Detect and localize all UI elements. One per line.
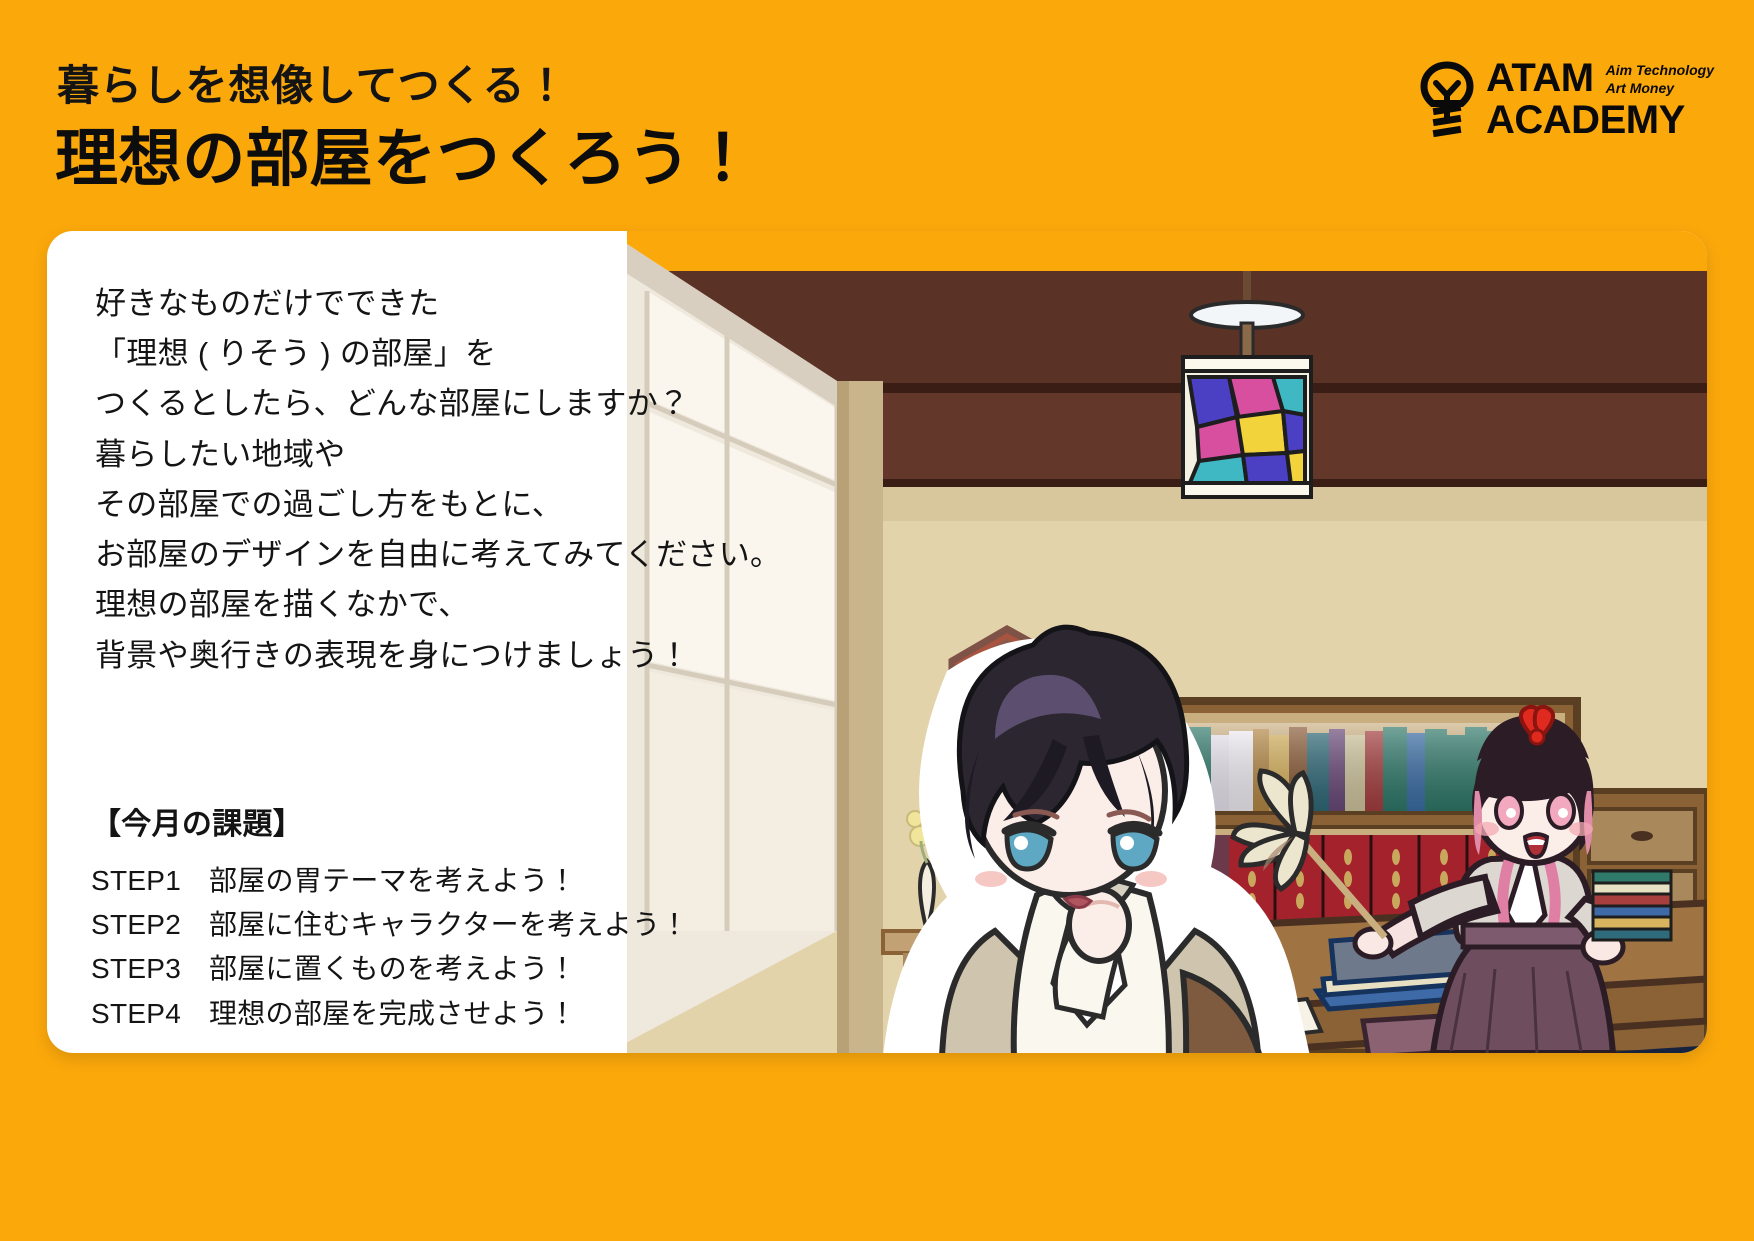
logo-wordmark: ATAM Aim Technology Art Money ACADEMY <box>1486 58 1714 140</box>
description-line: 背景や奥行きの表現を身につけましょう！ <box>95 631 795 681</box>
logo-tagline-2: Art Money <box>1606 80 1714 98</box>
step-item: STEP4 理想の部屋を完成させよう！ <box>91 992 791 1036</box>
step-text: 部屋の胃テーマを考えよう！ <box>209 859 577 903</box>
description-line: 理想の部屋を描くなかで、 <box>95 580 795 630</box>
atam-academy-logo: ATAM Aim Technology Art Money ACADEMY <box>1418 58 1714 140</box>
description-line: 暮らしたい地域や <box>95 430 795 480</box>
step-text: 部屋に住むキャラクターを考えよう！ <box>209 903 689 947</box>
description-line: 好きなものだけでできた <box>95 279 795 329</box>
step-item: STEP3 部屋に置くものを考えよう！ <box>91 947 791 991</box>
step-label: STEP3 <box>91 947 209 991</box>
lightbulb-yen-icon <box>1418 61 1476 137</box>
task-heading: 【今月の課題】 <box>91 799 791 843</box>
description-paragraph: 好きなものだけでできた 「理想 ( りそう ) の部屋」を つくるとしたら、どん… <box>95 279 795 681</box>
description-line: その部屋での過ごし方をもとに、 <box>95 480 795 530</box>
step-label: STEP1 <box>91 859 209 903</box>
logo-line-atam: ATAM <box>1486 58 1594 98</box>
step-item: STEP2 部屋に住むキャラクターを考えよう！ <box>91 903 791 947</box>
header-subtitle: 暮らしを想像してつくる！ <box>57 52 568 113</box>
description-line: つくるとしたら、どんな部屋にしますか？ <box>95 379 795 429</box>
content-card: 121 23 45 67 89 1011 <box>47 231 1707 1053</box>
step-item: STEP1 部屋の胃テーマを考えよう！ <box>91 859 791 903</box>
step-label: STEP2 <box>91 903 209 947</box>
monthly-task-block: 【今月の課題】 STEP1 部屋の胃テーマを考えよう！ STEP2 部屋に住むキ… <box>91 799 791 1036</box>
description-line: 「理想 ( りそう ) の部屋」を <box>95 329 795 379</box>
page-title: 理想の部屋をつくろう！ <box>55 108 755 199</box>
step-label: STEP4 <box>91 992 209 1036</box>
step-text: 部屋に置くものを考えよう！ <box>209 947 577 991</box>
step-text: 理想の部屋を完成させよう！ <box>209 992 577 1036</box>
logo-line-academy: ACADEMY <box>1486 100 1714 140</box>
page-header: 暮らしを想像してつくる！ 理想の部屋をつくろう！ ATAM Aim Techno… <box>0 0 1754 232</box>
logo-tagline-1: Aim Technology <box>1606 62 1714 80</box>
description-line: お部屋のデザインを自由に考えてみてください。 <box>95 530 795 580</box>
